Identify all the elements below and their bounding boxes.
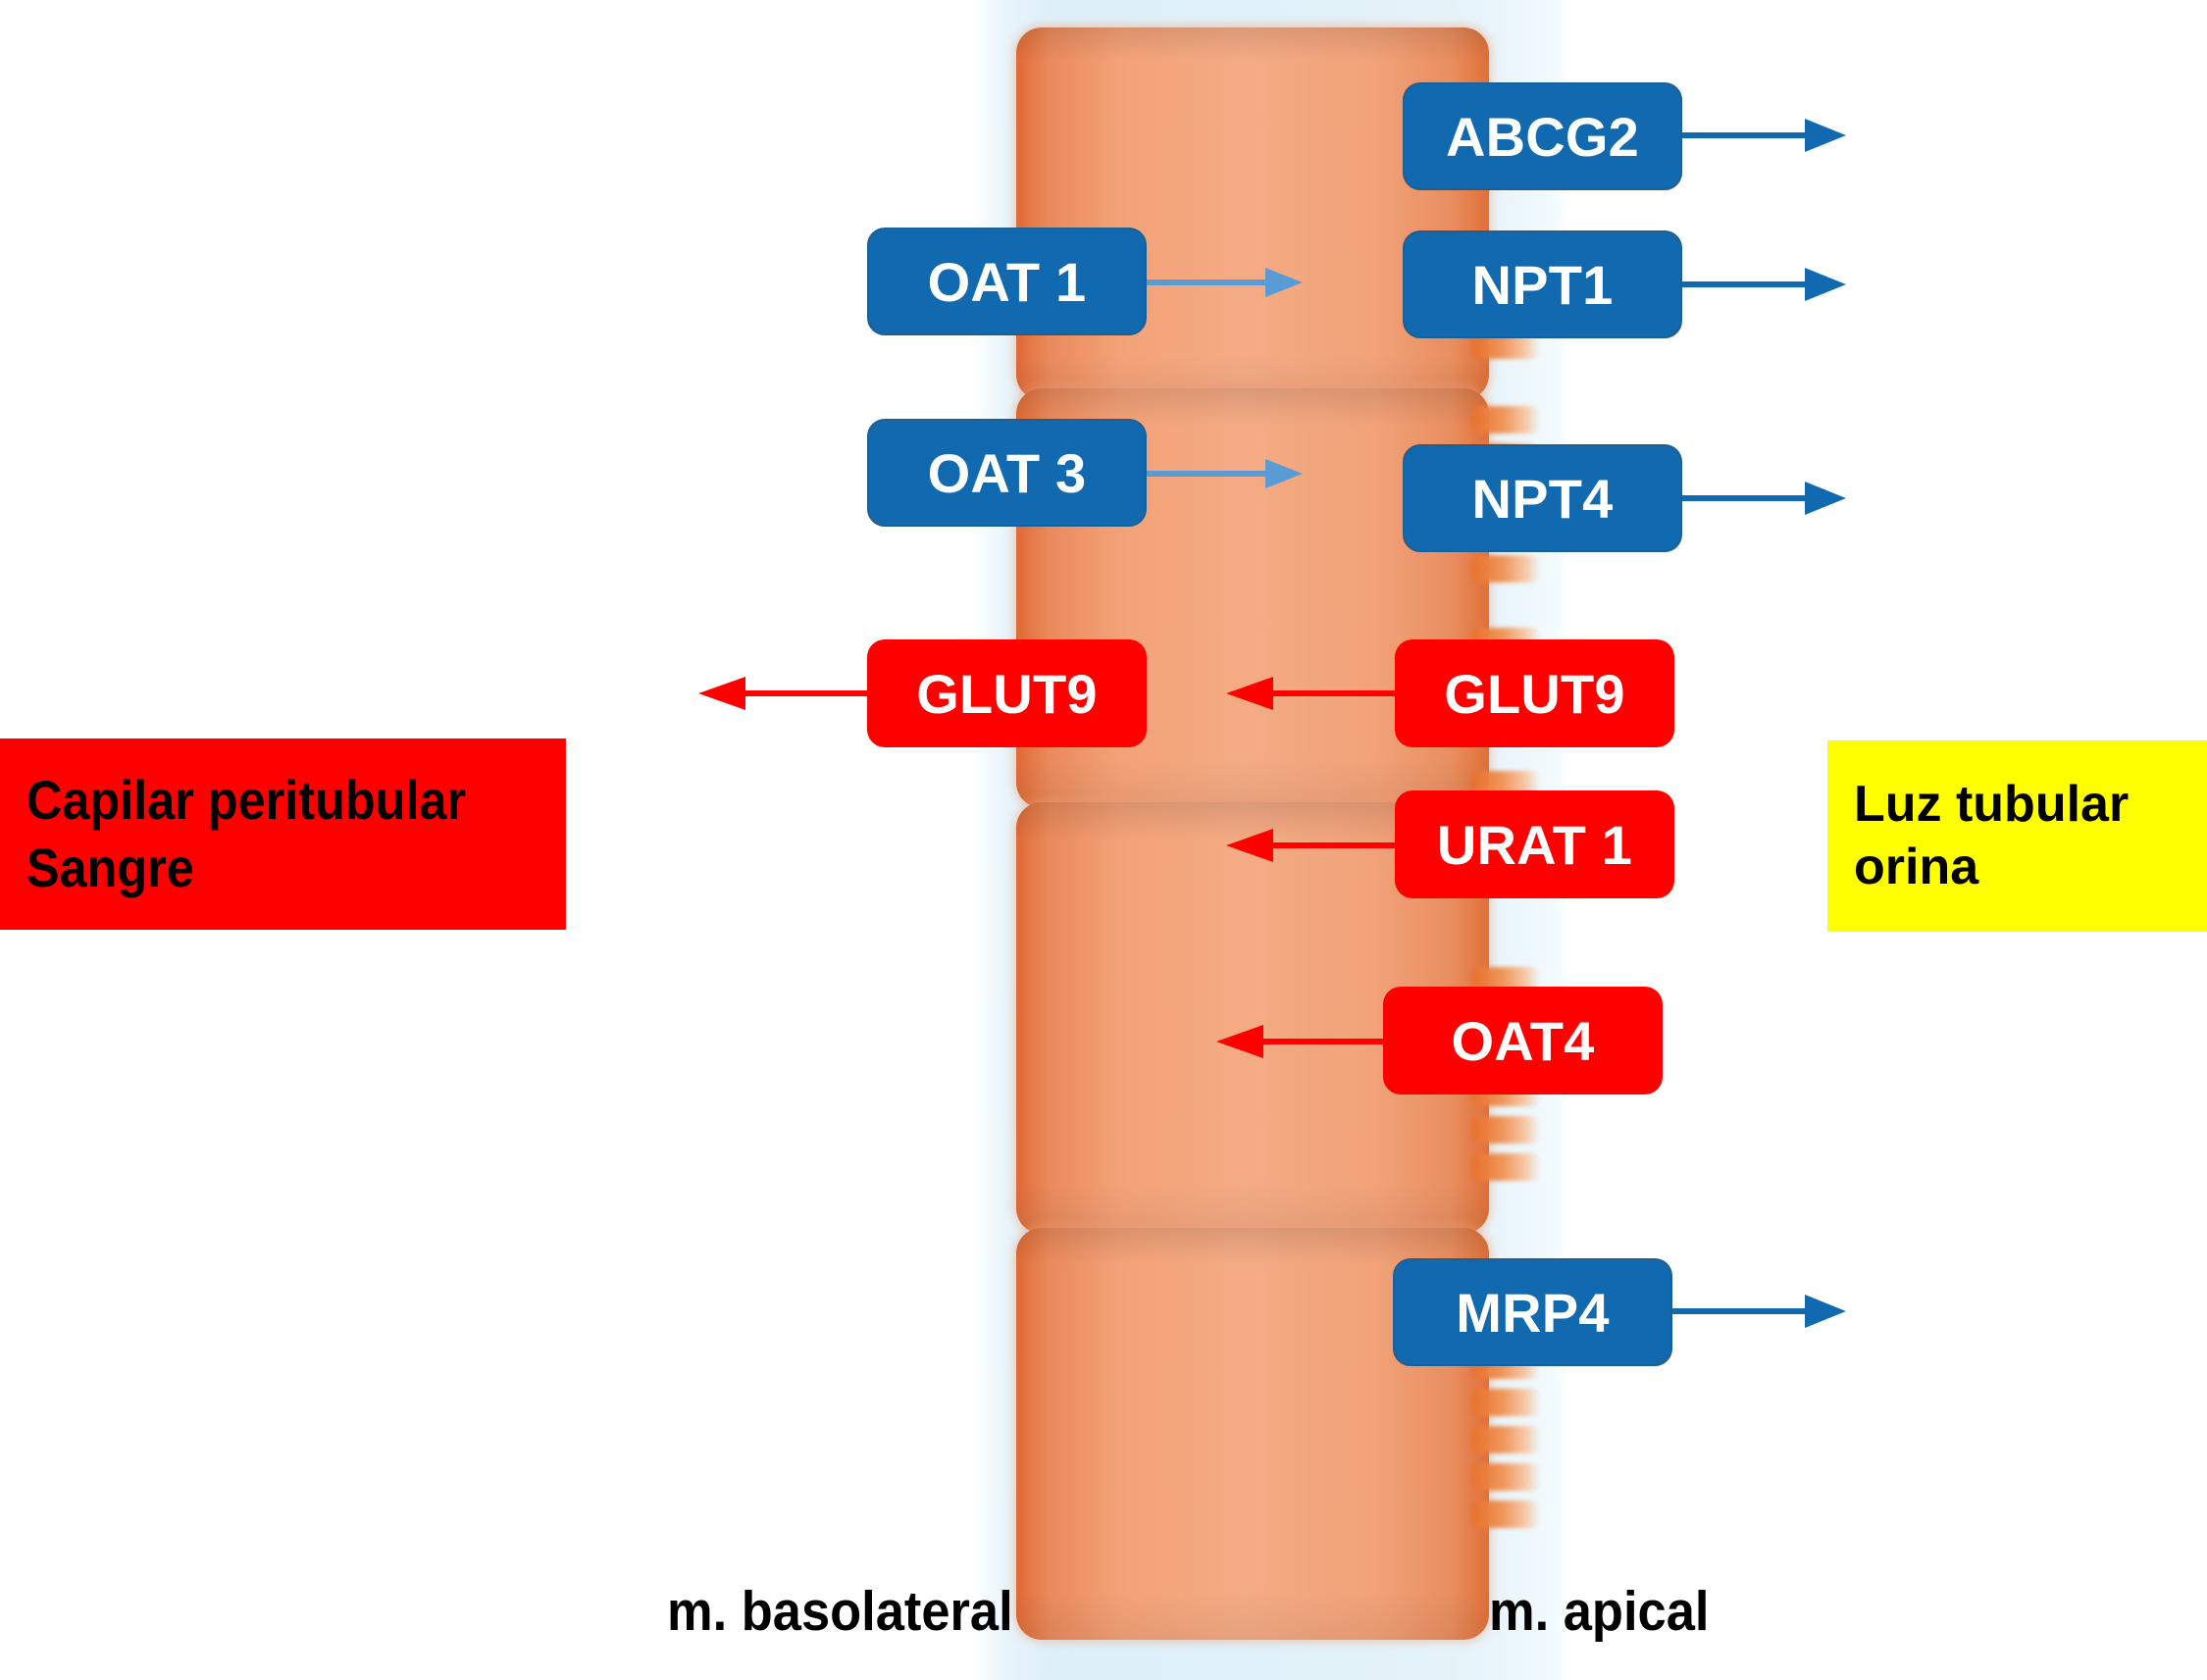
transporter-npt1-label: NPT1: [1472, 253, 1614, 317]
transporter-oat4-label: OAT4: [1452, 1009, 1595, 1073]
transporter-npt4-label: NPT4: [1472, 467, 1614, 531]
transporter-oat4[interactable]: OAT4: [1383, 987, 1663, 1095]
transporter-urat1-label: URAT 1: [1437, 813, 1632, 877]
transporter-mrp4[interactable]: MRP4: [1393, 1258, 1672, 1366]
uric-acid-transporter-diagram: ABCG2 NPT1 NPT4 GLUT9 URAT 1 OAT4 MRP4 O…: [0, 0, 2207, 1680]
compartment-label-urine: Luz tubular orina: [1827, 740, 2207, 932]
compartment-label-urine-line1: Luz tubular: [1854, 774, 2207, 836]
compartment-label-blood-line2: Sangre: [26, 835, 566, 901]
transporter-npt1[interactable]: NPT1: [1403, 230, 1682, 338]
transporter-oat3-label: OAT 3: [928, 441, 1087, 505]
compartment-label-urine-line2: orina: [1854, 837, 2207, 898]
caption-apical-membrane: m. apical: [1489, 1579, 1709, 1644]
transporter-npt4[interactable]: NPT4: [1403, 444, 1682, 552]
transporter-oat1[interactable]: OAT 1: [867, 228, 1147, 335]
transporter-mrp4-label: MRP4: [1456, 1281, 1609, 1345]
transporter-abcg2[interactable]: ABCG2: [1403, 82, 1682, 190]
caption-basolateral-membrane: m. basolateral: [667, 1579, 1013, 1644]
transporter-oat3[interactable]: OAT 3: [867, 419, 1147, 527]
transporter-glut9-apical-label: GLUT9: [1444, 662, 1625, 726]
transporter-glut9-basolateral-label: GLUT9: [916, 662, 1098, 726]
transporter-abcg2-label: ABCG2: [1446, 105, 1639, 169]
transporter-urat1[interactable]: URAT 1: [1395, 790, 1674, 898]
compartment-label-blood: Capilar peritubular Sangre: [0, 738, 566, 930]
transporter-glut9-basolateral[interactable]: GLUT9: [867, 639, 1147, 747]
compartment-label-blood-line1: Capilar peritubular: [26, 767, 566, 834]
transporter-oat1-label: OAT 1: [928, 250, 1087, 314]
transporter-glut9-apical[interactable]: GLUT9: [1395, 639, 1674, 747]
